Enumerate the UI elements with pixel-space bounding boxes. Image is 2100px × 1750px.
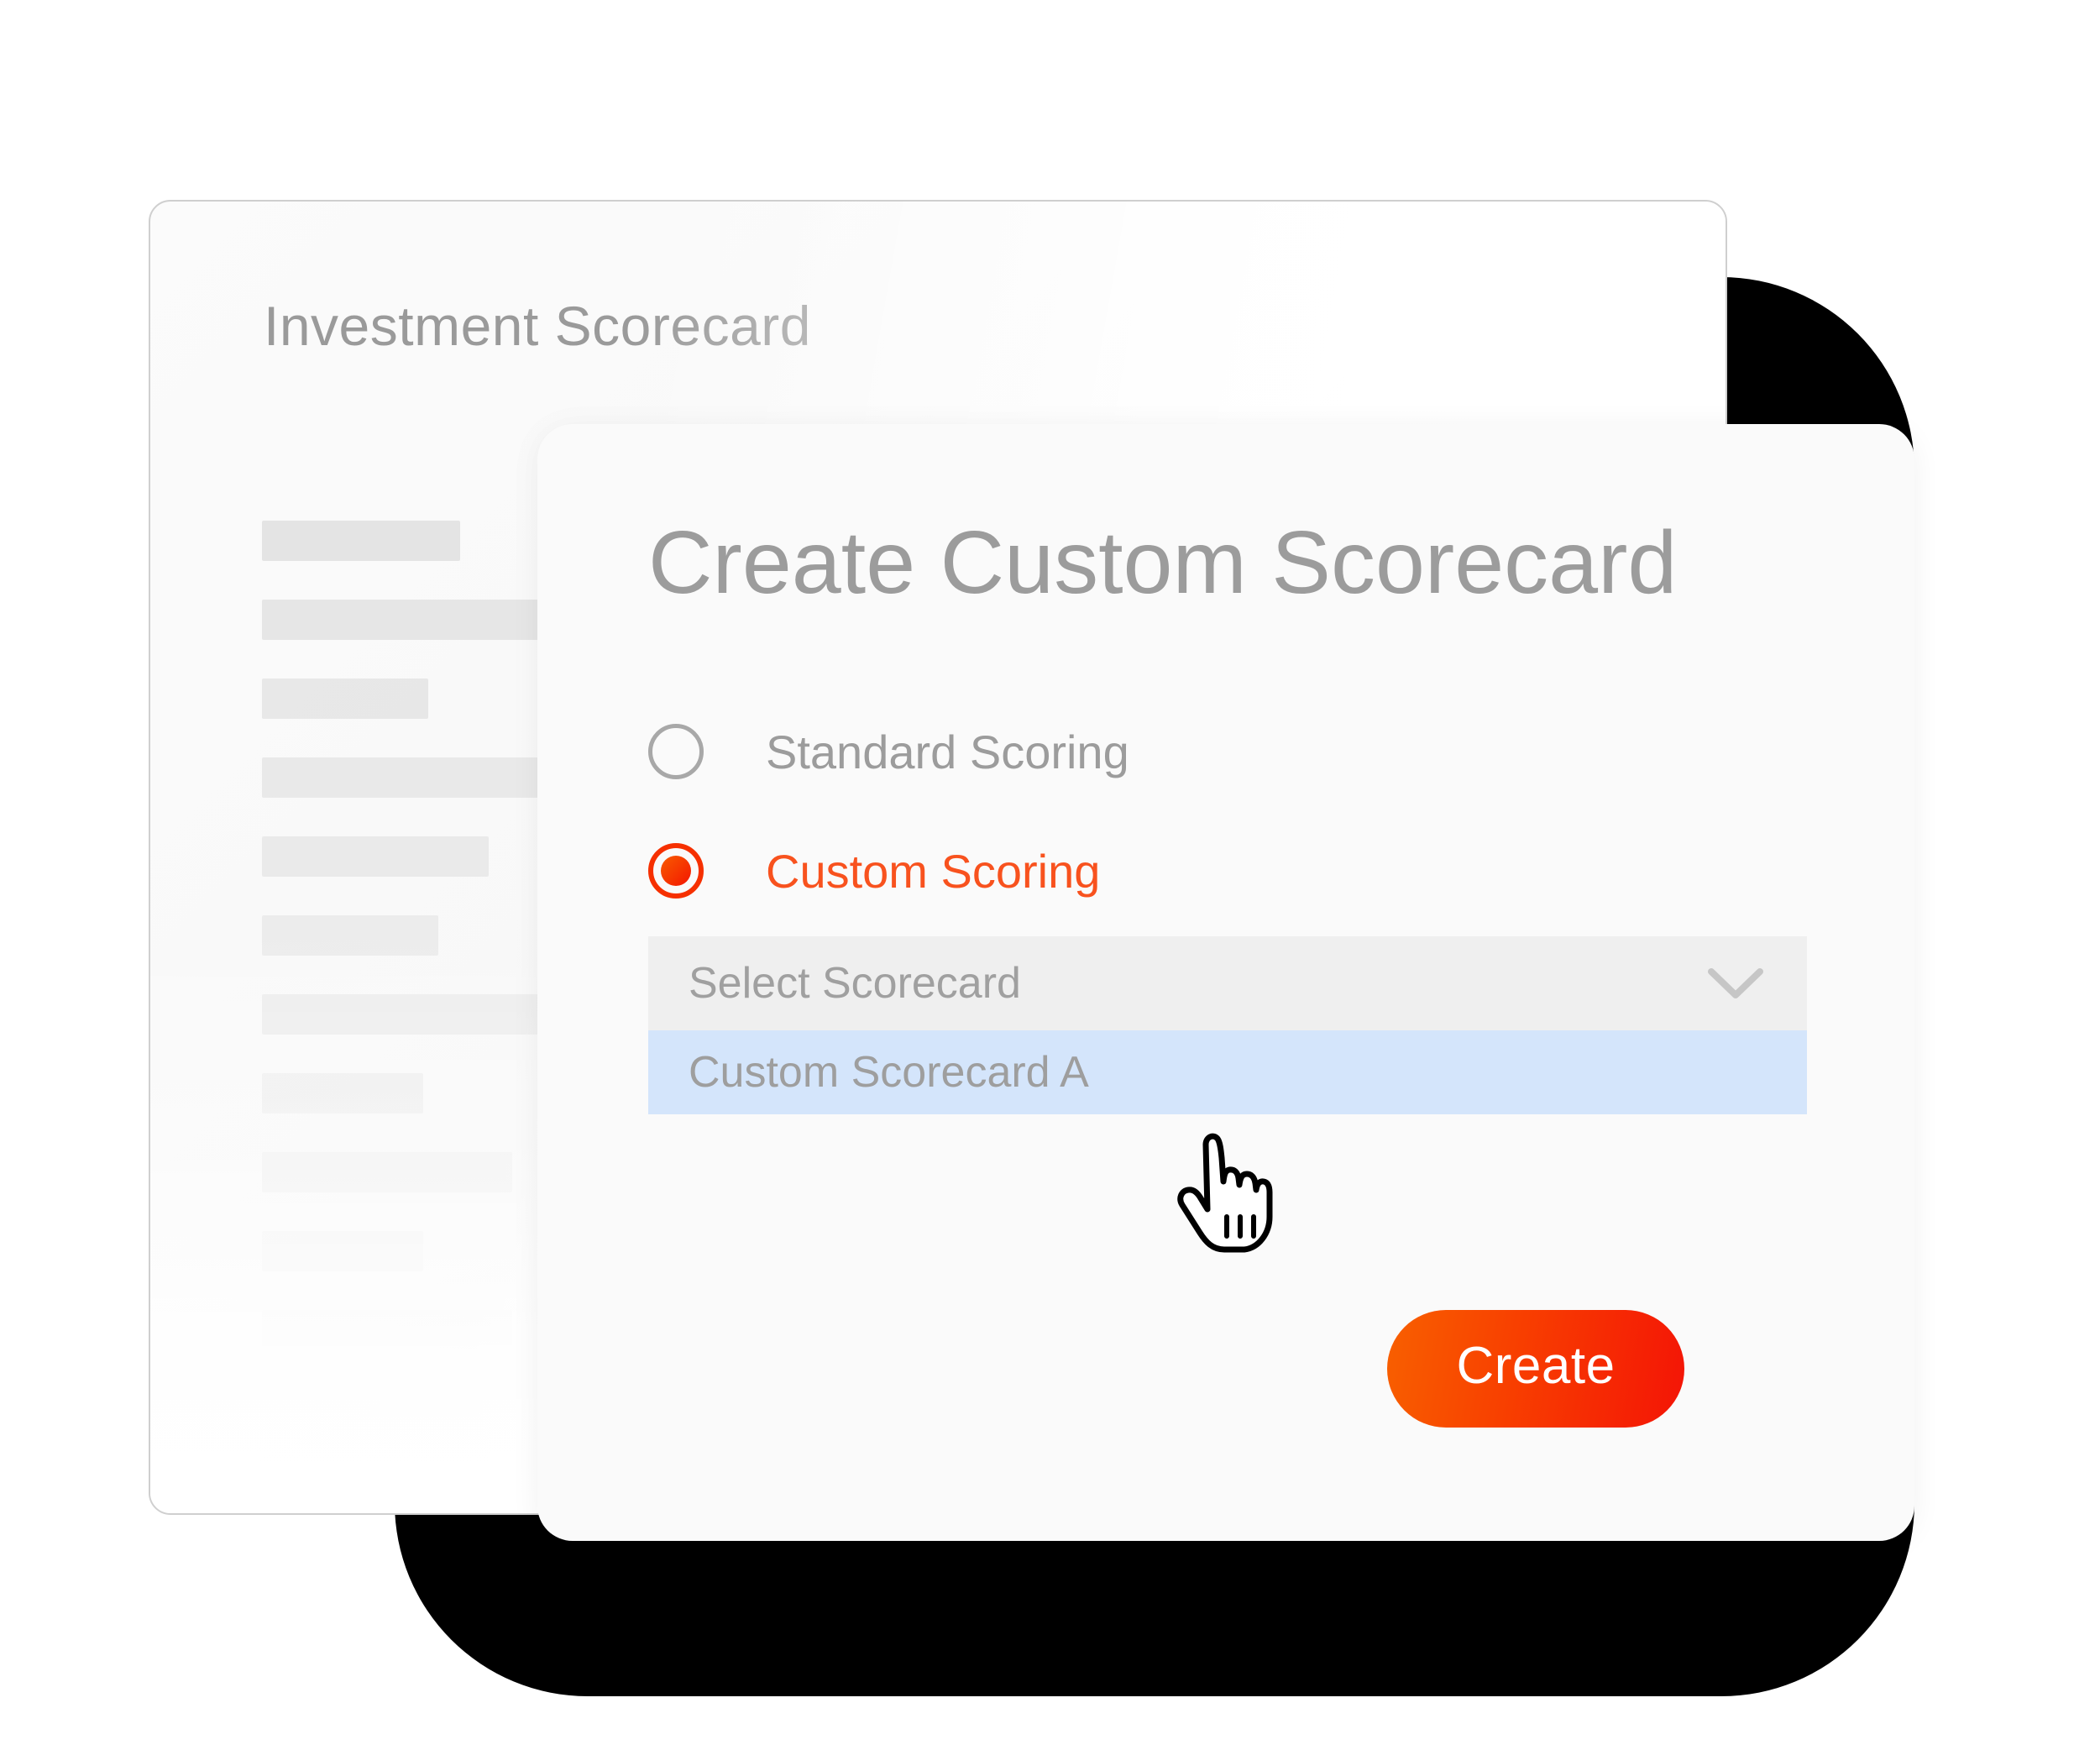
chevron-down-icon[interactable] [1708,967,1763,1000]
radio-label-standard-scoring: Standard Scoring [766,725,1129,779]
scoring-mode-radio-group: Standard Scoring Custom Scoring [648,714,1488,952]
radio-option-standard-scoring[interactable]: Standard Scoring [648,714,1488,789]
skeleton-bar [262,836,489,877]
radio-selected-icon[interactable] [648,843,704,899]
background-card-title: Investment Scorecard [264,294,811,358]
screen-root: Investment Scorecard Create Custom Score… [0,0,2100,1750]
modal-title: Create Custom Scorecard [648,512,1677,614]
scorecard-select: Select Scorecard Custom Scorecard A [648,936,1807,1114]
skeleton-bar [262,600,583,640]
skeleton-bar [262,1073,423,1113]
create-custom-scorecard-modal: Create Custom Scorecard Standard Scoring… [537,424,1914,1541]
radio-option-custom-scoring[interactable]: Custom Scoring [648,833,1488,909]
skeleton-bar [262,757,566,798]
scorecard-select-control[interactable]: Select Scorecard [648,936,1807,1030]
skeleton-bar [262,1231,423,1271]
radio-label-custom-scoring: Custom Scoring [766,844,1100,899]
create-button[interactable]: Create [1387,1310,1684,1428]
skeleton-bar [262,1152,512,1192]
skeleton-bar [262,994,558,1035]
skeleton-bar [262,915,438,956]
skeleton-bar [262,679,428,719]
skeleton-bar [262,521,460,561]
skeleton-bar [262,1310,512,1350]
scorecard-select-placeholder: Select Scorecard [689,958,1708,1009]
select-option-custom-scorecard-a[interactable]: Custom Scorecard A [648,1030,1807,1114]
scorecard-select-options: Custom Scorecard A [648,1030,1807,1114]
radio-unselected-icon[interactable] [648,724,704,779]
